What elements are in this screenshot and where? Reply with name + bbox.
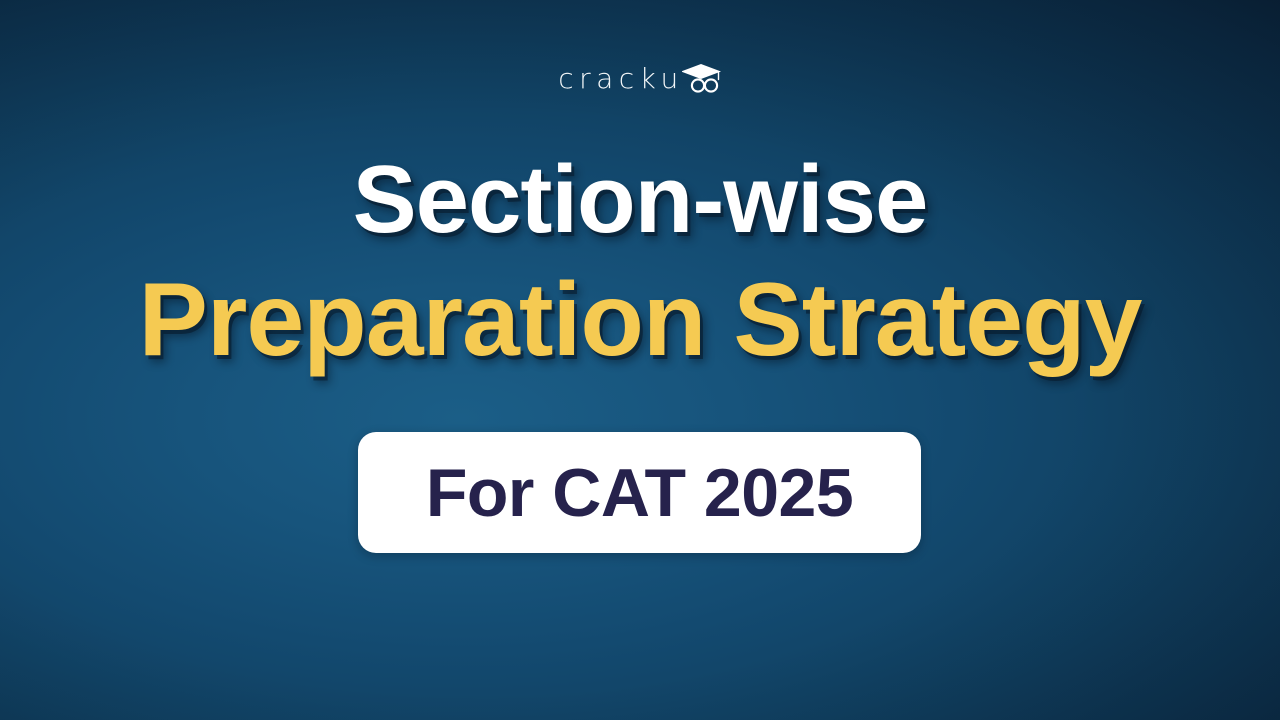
exam-badge-card: For CAT 2025 <box>358 432 921 553</box>
graduation-cap-icon <box>682 62 722 96</box>
brand-wordmark: cracku <box>558 65 684 93</box>
page-title: Section-wise Preparation Strategy <box>0 150 1280 374</box>
title-line-primary: Section-wise <box>0 150 1280 250</box>
title-line-secondary: Preparation Strategy <box>0 266 1280 374</box>
exam-badge-label: For CAT 2025 <box>426 459 853 527</box>
brand-logo: cracku <box>0 62 1280 96</box>
title-card-thumbnail: cracku Section-wise Preparation Strategy… <box>0 0 1280 720</box>
